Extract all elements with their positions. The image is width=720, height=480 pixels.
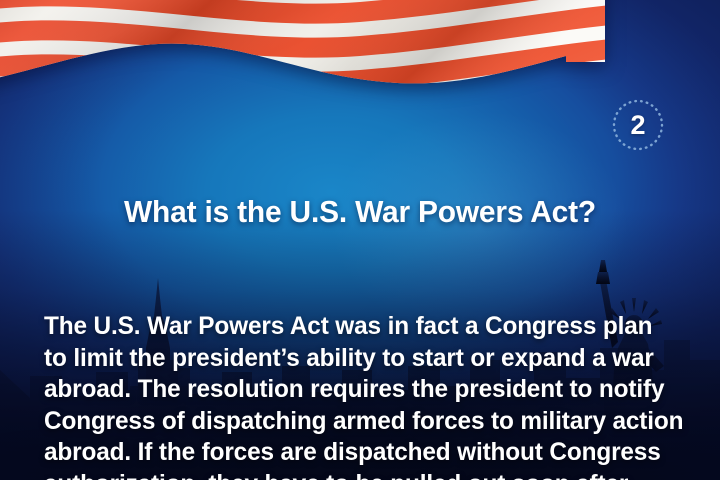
- page-title: What is the U.S. War Powers Act?: [13, 194, 708, 230]
- body-line: Congress of dispatching armed forces to …: [44, 406, 676, 438]
- body-paragraph: The U.S. War Powers Act was in fact a Co…: [44, 311, 676, 480]
- body-line: abroad. If the forces are dispatched wit…: [44, 437, 676, 469]
- step-number-badge: 2: [611, 98, 665, 152]
- body-line: abroad. The resolution requires the pres…: [44, 374, 676, 406]
- american-flag-icon: [0, 0, 605, 105]
- infographic-slide: 2 What is the U.S. War Powers Act? The U…: [0, 0, 720, 480]
- body-line: The U.S. War Powers Act was in fact a Co…: [44, 311, 676, 343]
- body-line: to limit the president’s ability to star…: [44, 343, 676, 375]
- badge-number: 2: [611, 98, 665, 152]
- body-line-truncated: authorization, they have to be pulled ou…: [44, 469, 676, 480]
